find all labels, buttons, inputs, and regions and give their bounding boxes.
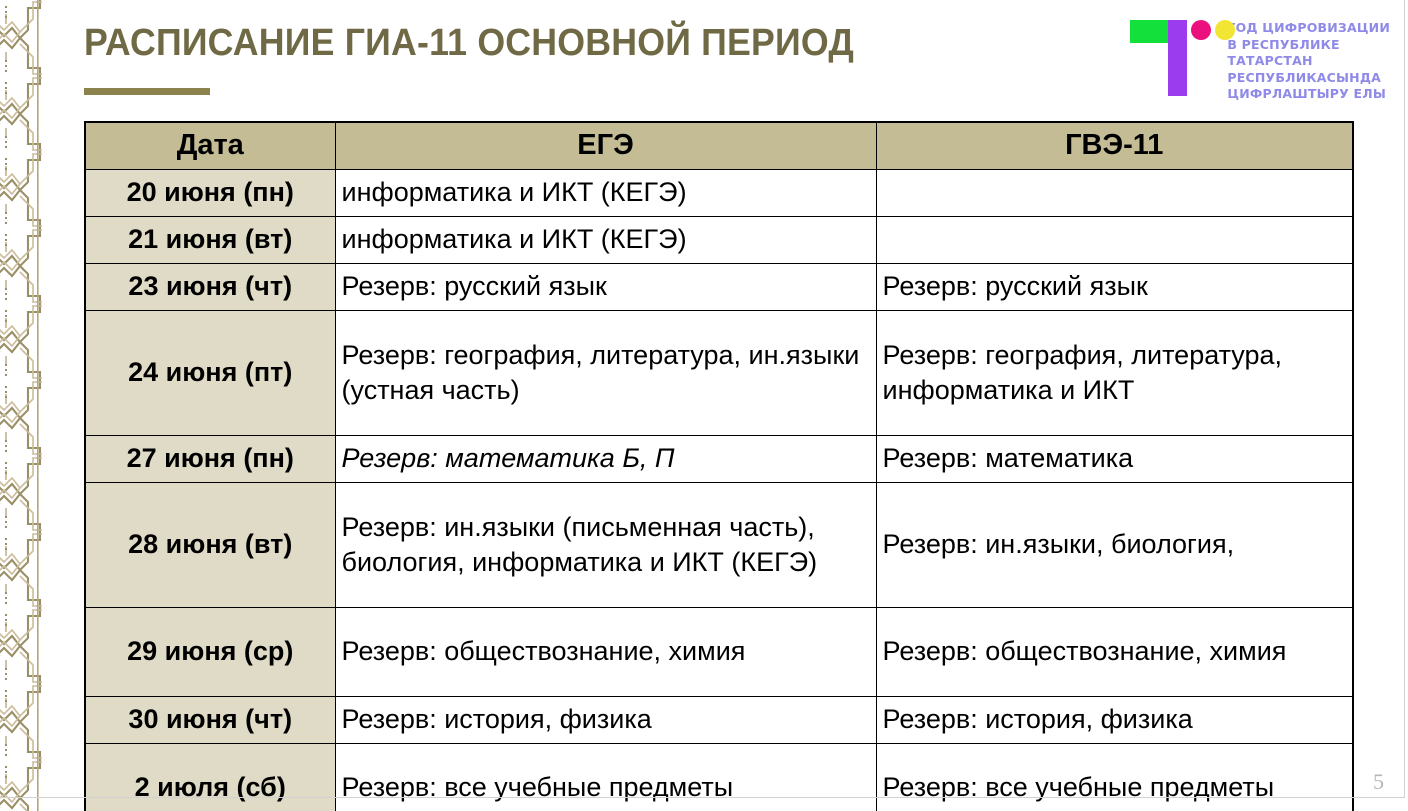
cell-date: 21 июня (вт) <box>85 217 335 264</box>
table-header-row: Дата ЕГЭ ГВЭ-11 <box>85 122 1353 170</box>
logo-mark-icon <box>1121 8 1217 96</box>
column-header-gve11: ГВЭ-11 <box>876 122 1353 170</box>
table-row: 30 июня (чт)Резерв: история, физикаРезер… <box>85 697 1353 744</box>
column-header-date: Дата <box>85 122 335 170</box>
table-row: 27 июня (пн)Резерв: математика Б, ПРезер… <box>85 436 1353 483</box>
cell-gve11: Резерв: ин.языки, биология, <box>876 483 1353 608</box>
logo-pink-circle-shape <box>1191 20 1211 40</box>
logo-purple-stem-shape <box>1168 20 1187 96</box>
cell-gve11: Резерв: история, физика <box>876 697 1353 744</box>
logo-caption: ГОД ЦИФРОВИЗАЦИИ В РЕСПУБЛИКЕ ТАТАРСТАН … <box>1227 8 1390 103</box>
schedule-table: Дата ЕГЭ ГВЭ-11 20 июня (пн)информатика … <box>84 121 1354 811</box>
logo-caption-line-4: РЕСПУБЛИКАСЫНДА <box>1227 70 1390 87</box>
column-header-ege: ЕГЭ <box>335 122 876 170</box>
cell-gve11 <box>876 170 1353 217</box>
logo: ГОД ЦИФРОВИЗАЦИИ В РЕСПУБЛИКЕ ТАТАРСТАН … <box>1121 8 1390 103</box>
table-row: 24 июня (пт)Резерв: география, литератур… <box>85 311 1353 436</box>
cell-ege: информатика и ИКТ (КЕГЭ) <box>335 170 876 217</box>
schedule-table-container: Дата ЕГЭ ГВЭ-11 20 июня (пн)информатика … <box>84 121 1352 811</box>
table-row: 2 июля (сб)Резерв: все учебные предметыР… <box>85 744 1353 811</box>
cell-ege: Резерв: география, литература, ин.языки … <box>335 311 876 436</box>
cell-date: 20 июня (пн) <box>85 170 335 217</box>
table-row: 21 июня (вт)информатика и ИКТ (КЕГЭ) <box>85 217 1353 264</box>
title-block: РАСПИСАНИЕ ГИА-11 ОСНОВНОЙ ПЕРИОД <box>84 8 1044 95</box>
cell-date: 29 июня (ср) <box>85 608 335 697</box>
table-row: 20 июня (пн)информатика и ИКТ (КЕГЭ) <box>85 170 1353 217</box>
page-title: РАСПИСАНИЕ ГИА-11 ОСНОВНОЙ ПЕРИОД <box>84 8 986 66</box>
cell-date: 24 июня (пт) <box>85 311 335 436</box>
slide-canvas: РАСПИСАНИЕ ГИА-11 ОСНОВНОЙ ПЕРИОД ГОД ЦИ… <box>0 0 1408 811</box>
logo-caption-line-1: ГОД ЦИФРОВИЗАЦИИ <box>1227 20 1390 37</box>
cell-ege: информатика и ИКТ (КЕГЭ) <box>335 217 876 264</box>
cell-gve11: Резерв: обществознание, химия <box>876 608 1353 697</box>
cell-date: 2 июля (сб) <box>85 744 335 811</box>
cell-gve11: Резерв: русский язык <box>876 264 1353 311</box>
ornamental-border-decoration <box>0 0 42 811</box>
cell-date: 27 июня (пн) <box>85 436 335 483</box>
cell-date: 30 июня (чт) <box>85 697 335 744</box>
table-row: 29 июня (ср)Резерв: обществознание, хими… <box>85 608 1353 697</box>
logo-caption-line-5: ЦИФРЛАШТЫРУ ЕЛЫ <box>1227 86 1390 103</box>
cell-ege: Резерв: история, физика <box>335 697 876 744</box>
cell-ege: Резерв: все учебные предметы <box>335 744 876 811</box>
logo-caption-line-3: ТАТАРСТАН <box>1227 53 1390 70</box>
table-row: 23 июня (чт)Резерв: русский языкРезерв: … <box>85 264 1353 311</box>
table-row: 28 июня (вт)Резерв: ин.языки (письменная… <box>85 483 1353 608</box>
title-accent-rule <box>84 88 210 95</box>
cell-gve11: Резерв: все учебные предметы <box>876 744 1353 811</box>
schedule-table-body: 20 июня (пн)информатика и ИКТ (КЕГЭ)21 и… <box>85 170 1353 811</box>
cell-gve11 <box>876 217 1353 264</box>
cell-ege: Резерв: математика Б, П <box>335 436 876 483</box>
slide-right-edge <box>1404 0 1405 797</box>
logo-caption-line-2: В РЕСПУБЛИКЕ <box>1227 37 1390 54</box>
cell-ege: Резерв: ин.языки (письменная часть), био… <box>335 483 876 608</box>
cell-date: 23 июня (чт) <box>85 264 335 311</box>
cell-ege: Резерв: русский язык <box>335 264 876 311</box>
cell-gve11: Резерв: математика <box>876 436 1353 483</box>
cell-ege: Резерв: обществознание, химия <box>335 608 876 697</box>
cell-date: 28 июня (вт) <box>85 483 335 608</box>
slide-bottom-edge <box>0 797 1405 798</box>
cell-gve11: Резерв: география, литература, информати… <box>876 311 1353 436</box>
page-number: 5 <box>1373 769 1384 795</box>
